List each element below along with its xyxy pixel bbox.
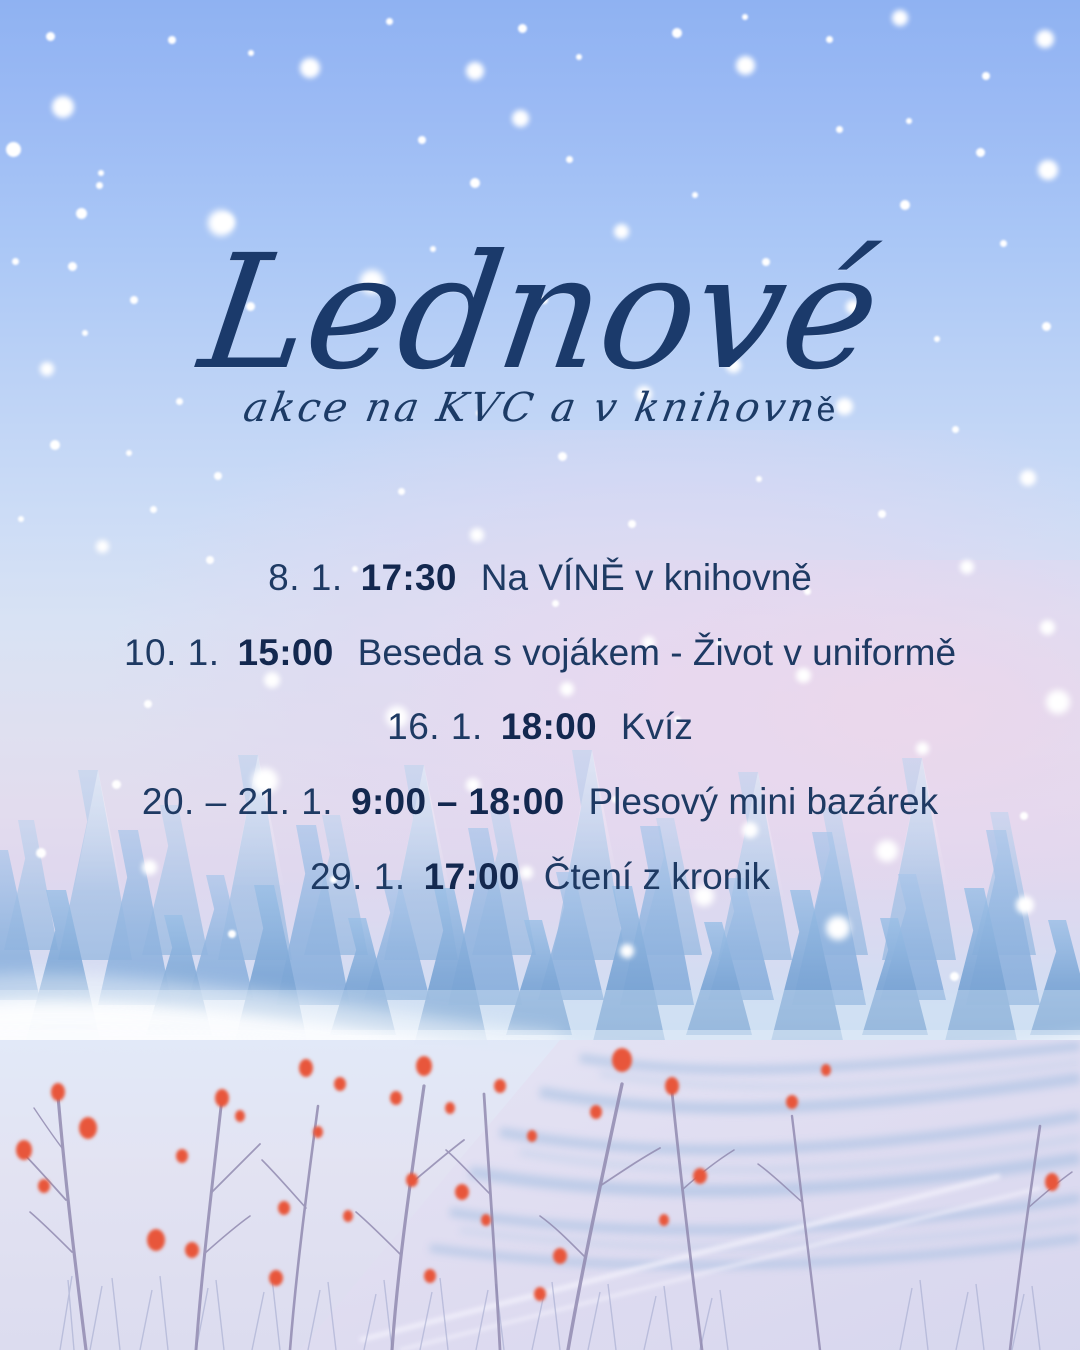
- sky-glow-lavender: [0, 430, 1080, 850]
- event-time: 18:00: [501, 706, 597, 747]
- event-row: 29. 1.17:00Čtení z kronik: [0, 855, 1080, 899]
- event-date: 10. 1.: [124, 632, 220, 673]
- foreground-winter-field: [0, 1040, 1080, 1350]
- event-row: 16. 1.18:00Kvíz: [0, 705, 1080, 749]
- event-date: 29. 1.: [310, 856, 406, 897]
- snowflake-layer: [0, 0, 1080, 1350]
- event-row: 10. 1.15:00Beseda s vojákem - Život v un…: [0, 631, 1080, 675]
- sky-glow-pink: [0, 560, 1080, 890]
- event-name: Plesový mini bazárek: [589, 781, 939, 822]
- event-date: 16. 1.: [387, 706, 483, 747]
- event-row: 8. 1.17:30Na VÍNĚ v knihovně: [0, 556, 1080, 600]
- subtitle-script-part: akce na KVC a v knihovn: [240, 385, 821, 431]
- page-title: Lednové: [193, 236, 887, 391]
- event-date: 8. 1.: [268, 557, 343, 598]
- event-date: 20. – 21. 1.: [142, 781, 333, 822]
- event-time: 17:00: [424, 856, 520, 897]
- event-name: Čtení z kronik: [544, 856, 770, 897]
- event-row: 20. – 21. 1.9:00 – 18:00Plesový mini baz…: [0, 780, 1080, 824]
- event-time: 15:00: [238, 632, 334, 673]
- event-time: 17:30: [361, 557, 457, 598]
- poster-heading: Lednové akce na KVC a v knihovně: [0, 236, 1080, 431]
- snow-bank-ridge: [0, 930, 1080, 1190]
- winter-event-poster: Lednové akce na KVC a v knihovně 8. 1.17…: [0, 0, 1080, 1350]
- pine-forest-silhouette: [0, 700, 1080, 1350]
- event-name: Beseda s vojákem - Život v uniformě: [358, 632, 956, 673]
- event-list: 8. 1.17:30Na VÍNĚ v knihovně 10. 1.15:00…: [0, 556, 1080, 898]
- event-time: 9:00 – 18:00: [351, 781, 564, 822]
- poster-subtitle: akce na KVC a v knihovně: [240, 385, 840, 431]
- event-name: Kvíz: [621, 706, 693, 747]
- event-name: Na VÍNĚ v knihovně: [481, 557, 812, 598]
- subtitle-plain-part: ě: [817, 391, 836, 430]
